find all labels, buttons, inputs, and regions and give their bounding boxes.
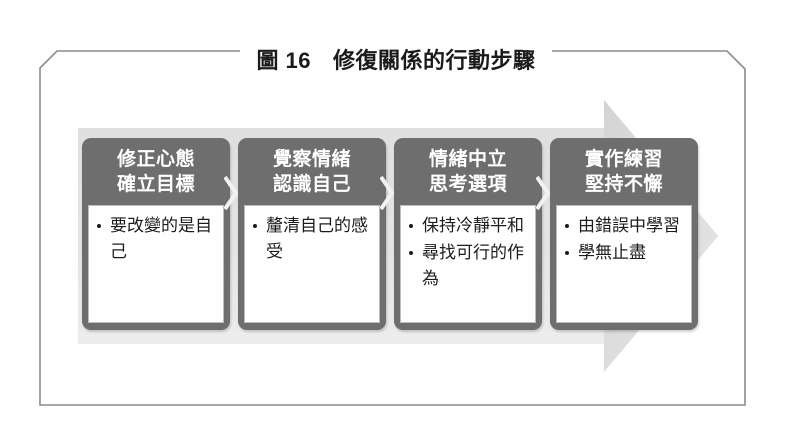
step-header-3: 情緒中立 思考選項 — [394, 138, 542, 205]
bullet-list-2: 釐清自己的感受 — [249, 213, 374, 265]
step-card-2[interactable]: 覺察情緒 認識自己 釐清自己的感受 — [238, 138, 386, 330]
step-header-1: 修正心態 確立目標 — [82, 138, 230, 205]
step-header-4: 實作練習 堅持不懈 — [550, 138, 698, 205]
bullet-item: 尋找可行的作為 — [405, 240, 530, 292]
step-header-line: 實作練習 — [552, 147, 696, 172]
step-header-line: 思考選項 — [396, 172, 540, 197]
step-header-line: 覺察情緒 — [240, 147, 384, 172]
steps-row: 修正心態 確立目標 要改變的是自己 覺察情緒 認識自己 釐清自己的感受 — [82, 138, 722, 330]
bullet-item: 要改變的是自己 — [93, 213, 218, 265]
step-header-2: 覺察情緒 認識自己 — [238, 138, 386, 205]
step-header-line: 堅持不懈 — [552, 172, 696, 197]
step-body-3: 保持冷靜平和 尋找可行的作為 — [400, 205, 536, 323]
bullet-list-3: 保持冷靜平和 尋找可行的作為 — [405, 213, 530, 292]
bullet-item: 保持冷靜平和 — [405, 213, 530, 239]
step-header-line: 修正心態 — [84, 147, 228, 172]
step-body-2: 釐清自己的感受 — [244, 205, 380, 323]
step-body-1: 要改變的是自己 — [88, 205, 224, 323]
bullet-item: 學無止盡 — [561, 240, 686, 266]
step-body-4: 由錯誤中學習 學無止盡 — [556, 205, 692, 323]
step-header-line: 確立目標 — [84, 172, 228, 197]
figure-container: 圖 16修復關係的行動步驟 修正心態 確立目標 要改變的是自己 覺察情緒 認識自… — [0, 0, 792, 427]
bullet-list-1: 要改變的是自己 — [93, 213, 218, 265]
bullet-item: 由錯誤中學習 — [561, 213, 686, 239]
step-card-4[interactable]: 實作練習 堅持不懈 由錯誤中學習 學無止盡 — [550, 138, 698, 330]
step-header-line: 認識自己 — [240, 172, 384, 197]
bullet-list-4: 由錯誤中學習 學無止盡 — [561, 213, 686, 266]
step-header-line: 情緒中立 — [396, 147, 540, 172]
step-card-3[interactable]: 情緒中立 思考選項 保持冷靜平和 尋找可行的作為 — [394, 138, 542, 330]
step-card-1[interactable]: 修正心態 確立目標 要改變的是自己 — [82, 138, 230, 330]
bullet-item: 釐清自己的感受 — [249, 213, 374, 265]
